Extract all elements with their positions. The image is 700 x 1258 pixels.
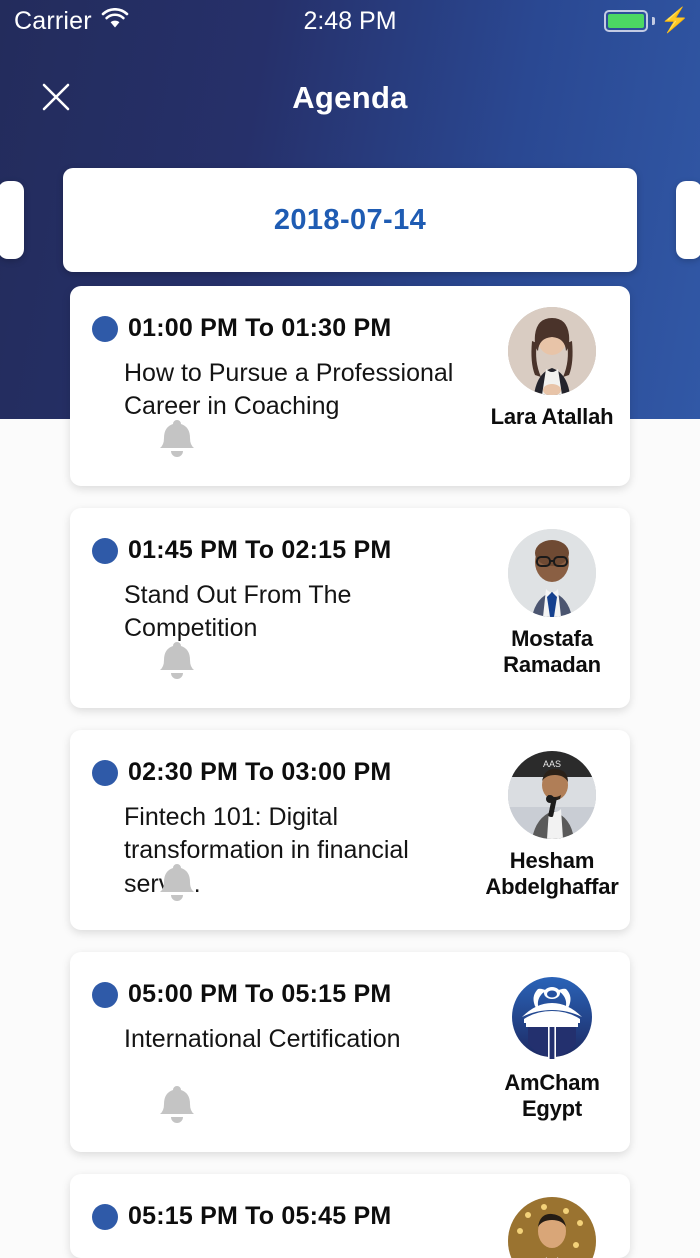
session-speaker: AmCham Egypt — [488, 973, 616, 1121]
session-speaker — [488, 1197, 616, 1258]
session-speaker: AAS Hesham Abdelghaffar — [488, 751, 616, 901]
bell-icon[interactable] — [154, 413, 200, 464]
agenda-session-card[interactable]: 05:15 PM To 05:45 PM — [70, 1174, 630, 1258]
session-time: 01:45 PM To 02:15 PM — [128, 536, 391, 565]
avatar — [508, 1197, 596, 1258]
session-status-dot-icon — [92, 538, 118, 564]
session-title — [124, 1243, 488, 1258]
speaker-name: Mostafa Ramadan — [488, 626, 616, 677]
status-bar-clock: 2:48 PM — [0, 7, 700, 36]
svg-text:AAS: AAS — [543, 759, 561, 769]
date-chip-selected[interactable]: 2018-07-14 — [63, 168, 637, 272]
agenda-session-card[interactable]: 05:00 PM To 05:15 PM International Certi… — [70, 952, 630, 1152]
battery-cap — [652, 17, 655, 25]
agenda-session-card[interactable]: 01:45 PM To 02:15 PM Stand Out From The … — [70, 508, 630, 708]
bell-icon[interactable] — [154, 857, 200, 908]
session-status-dot-icon — [92, 316, 118, 342]
session-time: 01:00 PM To 01:30 PM — [128, 314, 391, 343]
battery-full-icon — [604, 10, 648, 32]
session-speaker: Lara Atallah — [488, 307, 616, 430]
lightning-bolt-icon: ⚡ — [660, 9, 690, 33]
agenda-session-list: 01:00 PM To 01:30 PM How to Pursue a Pro… — [0, 286, 700, 1258]
session-status-dot-icon — [92, 760, 118, 786]
speaker-name: AmCham Egypt — [488, 1070, 616, 1121]
session-time: 05:00 PM To 05:15 PM — [128, 980, 391, 1009]
agenda-session-card[interactable]: 02:30 PM To 03:00 PM Fintech 101: Digita… — [70, 730, 630, 930]
date-chip-next[interactable] — [676, 181, 700, 259]
date-carousel: 2018-07-14 — [0, 168, 700, 272]
session-status-dot-icon — [92, 982, 118, 1008]
status-bar-right: ⚡ — [604, 9, 690, 33]
nav-bar: Agenda — [0, 60, 700, 140]
bell-icon[interactable] — [154, 635, 200, 686]
page-title: Agenda — [0, 80, 700, 116]
date-chip-previous[interactable] — [0, 181, 24, 259]
avatar: AAS — [508, 751, 596, 839]
speaker-name: Lara Atallah — [491, 404, 614, 430]
session-time: 02:30 PM To 03:00 PM — [128, 758, 391, 787]
session-time: 05:15 PM To 05:45 PM — [128, 1202, 391, 1231]
selected-date-label: 2018-07-14 — [274, 204, 426, 237]
bell-icon[interactable] — [154, 1079, 200, 1130]
agenda-session-card[interactable]: 01:00 PM To 01:30 PM How to Pursue a Pro… — [70, 286, 630, 486]
avatar — [508, 529, 596, 617]
session-body — [70, 1243, 630, 1258]
session-speaker: Mostafa Ramadan — [488, 529, 616, 677]
session-status-dot-icon — [92, 1204, 118, 1230]
avatar — [508, 307, 596, 395]
amcham-scarab-logo-icon — [508, 973, 596, 1061]
status-bar: Carrier 2:48 PM ⚡ — [0, 0, 700, 42]
speaker-name: Hesham Abdelghaffar — [485, 848, 618, 899]
